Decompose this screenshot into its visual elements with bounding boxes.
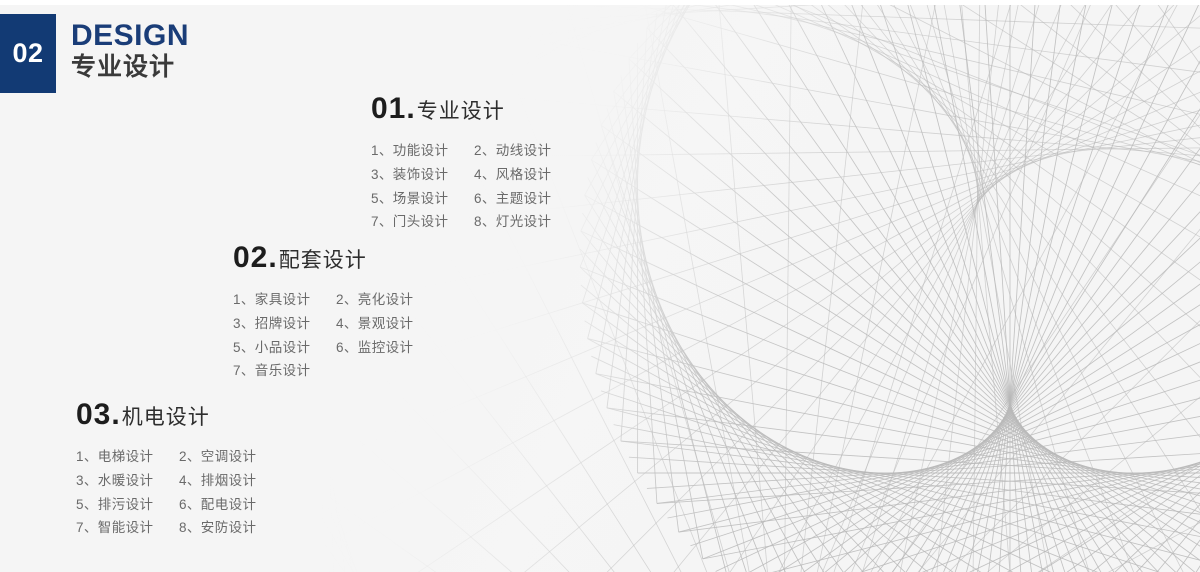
list-cell: 2、动线设计 (474, 139, 551, 163)
section-block-03: 03.机电设计 1、电梯设计2、空调设计 3、水暖设计4、排烟设计 5、排污设计… (76, 398, 256, 540)
section-block-01: 01.专业设计 1、功能设计2、动线设计 3、装饰设计4、风格设计 5、场景设计… (371, 92, 551, 234)
list-cell: 6、配电设计 (179, 493, 256, 517)
list-item: 5、小品设计6、监控设计 (233, 336, 413, 360)
list-cell: 5、小品设计 (233, 336, 336, 360)
list-item: 3、装饰设计4、风格设计 (371, 163, 551, 187)
section-name-02: 配套设计 (279, 249, 367, 272)
list-cell: 3、装饰设计 (371, 163, 474, 187)
section-name-01: 专业设计 (417, 100, 505, 123)
list-cell: 8、灯光设计 (474, 210, 551, 234)
section-name-03: 机电设计 (122, 406, 210, 429)
list-item: 7、门头设计8、灯光设计 (371, 210, 551, 234)
page-title-en: DESIGN (71, 21, 189, 52)
section-number-01: 01 (371, 92, 406, 125)
list-cell: 4、排烟设计 (179, 469, 256, 493)
section-dot-02: . (268, 241, 276, 274)
list-cell: 1、电梯设计 (76, 445, 179, 469)
section-dot-01: . (406, 92, 414, 125)
list-cell: 3、水暖设计 (76, 469, 179, 493)
list-item: 3、水暖设计4、排烟设计 (76, 469, 256, 493)
header: 02 DESIGN 专业设计 (0, 14, 189, 93)
list-item: 3、招牌设计4、景观设计 (233, 312, 413, 336)
list-cell: 2、亮化设计 (336, 288, 413, 312)
slide-canvas: 02 DESIGN 专业设计 01.专业设计 1、功能设计2、动线设计 3、装饰… (0, 0, 1200, 572)
list-item: 1、家具设计2、亮化设计 (233, 288, 413, 312)
section-block-02: 02.配套设计 1、家具设计2、亮化设计 3、招牌设计4、景观设计 5、小品设计… (233, 241, 413, 383)
section-dot-03: . (111, 398, 119, 431)
list-item: 1、电梯设计2、空调设计 (76, 445, 256, 469)
section-heading-02: 02.配套设计 (233, 241, 413, 275)
section-number-02: 02 (233, 241, 268, 274)
list-item: 7、音乐设计 (233, 359, 413, 383)
list-cell: 7、智能设计 (76, 516, 179, 540)
section-badge-number: 02 (0, 14, 56, 93)
list-cell: 4、景观设计 (336, 312, 413, 336)
section-heading-03: 03.机电设计 (76, 398, 256, 432)
section-number-03: 03 (76, 398, 111, 431)
list-cell: 8、安防设计 (179, 516, 256, 540)
list-cell: 5、排污设计 (76, 493, 179, 517)
list-cell: 6、主题设计 (474, 187, 551, 211)
page-title-cn: 专业设计 (71, 54, 189, 82)
section-list-02: 1、家具设计2、亮化设计 3、招牌设计4、景观设计 5、小品设计6、监控设计 7… (233, 288, 413, 383)
list-cell: 7、门头设计 (371, 210, 474, 234)
top-white-strip (0, 0, 1200, 5)
list-cell: 3、招牌设计 (233, 312, 336, 336)
list-cell: 5、场景设计 (371, 187, 474, 211)
header-text: DESIGN 专业设计 (71, 14, 189, 93)
list-cell: 1、家具设计 (233, 288, 336, 312)
list-cell: 1、功能设计 (371, 139, 474, 163)
list-item: 7、智能设计8、安防设计 (76, 516, 256, 540)
list-item: 1、功能设计2、动线设计 (371, 139, 551, 163)
list-cell: 2、空调设计 (179, 445, 256, 469)
list-item: 5、场景设计6、主题设计 (371, 187, 551, 211)
list-item: 5、排污设计6、配电设计 (76, 493, 256, 517)
section-heading-01: 01.专业设计 (371, 92, 551, 126)
section-list-03: 1、电梯设计2、空调设计 3、水暖设计4、排烟设计 5、排污设计6、配电设计 7… (76, 445, 256, 540)
list-cell: 7、音乐设计 (233, 359, 336, 383)
list-cell: 6、监控设计 (336, 336, 413, 360)
list-cell: 4、风格设计 (474, 163, 551, 187)
section-list-01: 1、功能设计2、动线设计 3、装饰设计4、风格设计 5、场景设计6、主题设计 7… (371, 139, 551, 234)
